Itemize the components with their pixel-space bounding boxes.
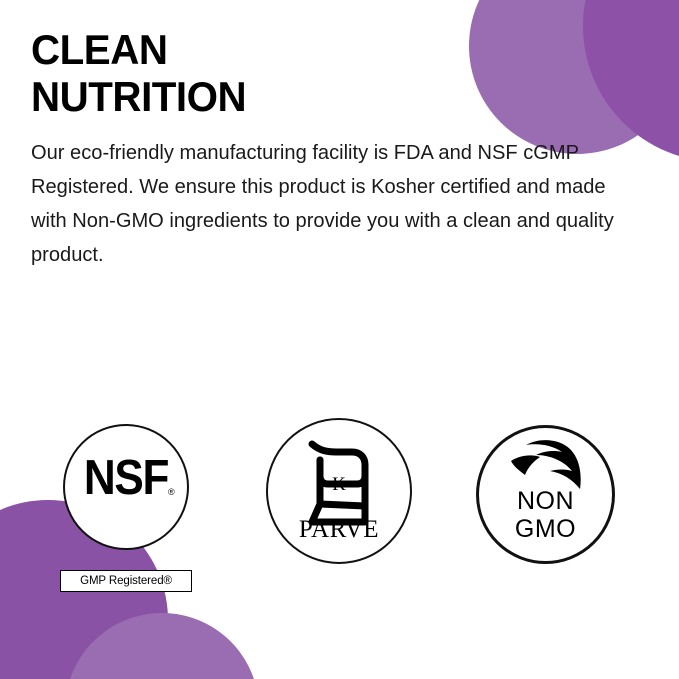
nsf-wordmark: NSF [69,454,182,503]
kosher-k-letter: K [266,474,412,496]
clean-nutrition-panel: CLEAN NUTRITION Our eco-friendly manufac… [0,0,679,679]
body-paragraph: Our eco-friendly manufacturing facility … [31,136,634,272]
certification-badges: NSF ® GMP Registered® K PARVE [0,410,679,600]
text-block: CLEAN NUTRITION Our eco-friendly manufac… [31,26,651,272]
gmp-registered-box: GMP Registered® [60,570,192,592]
kosher-parve-label: PARVE [266,516,412,544]
registered-trademark-icon: ® [168,487,175,497]
leaf-icon [506,439,586,491]
gmp-registered-label: GMP Registered® [80,575,172,587]
page-title: CLEAN NUTRITION [31,26,626,120]
non-gmo-label: NON GMO [476,487,615,543]
